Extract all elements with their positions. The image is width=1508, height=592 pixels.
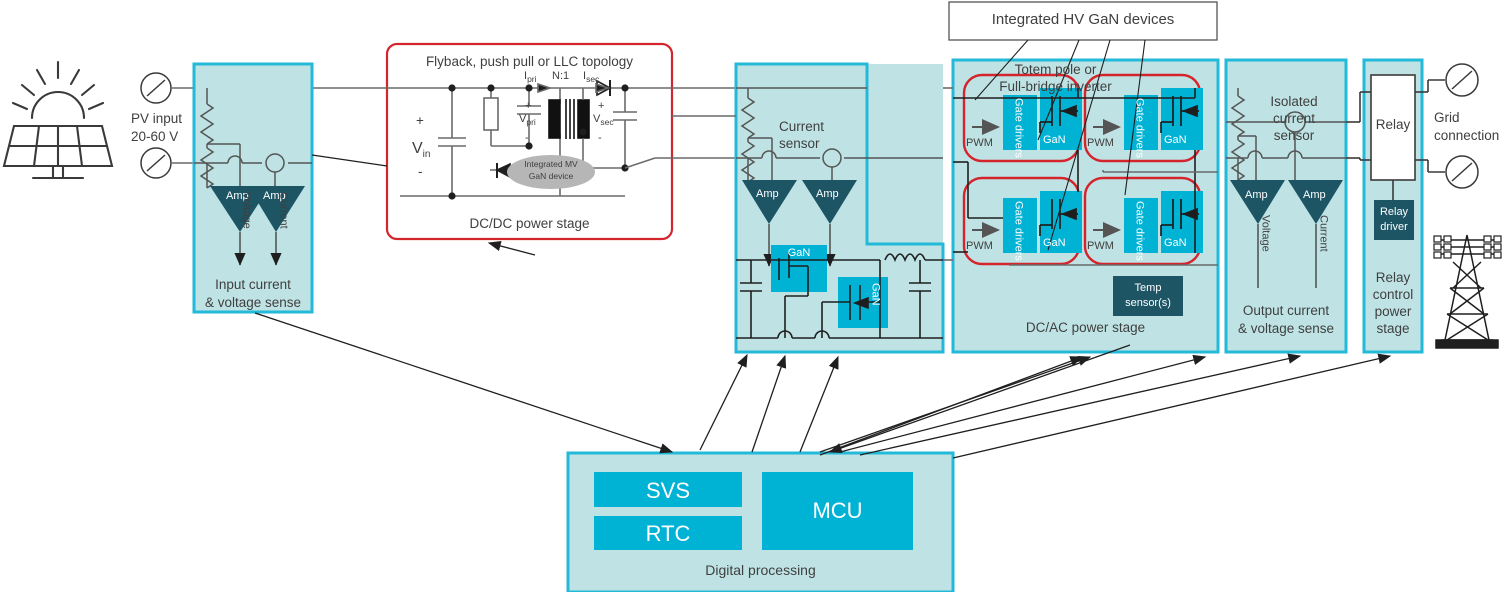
isolated-sensor-label-2: current: [1248, 111, 1340, 127]
cs-amp-2-label: Amp: [816, 188, 839, 201]
relay-driver-label-2: driver: [1374, 221, 1414, 234]
pwm-label-1: PWM: [966, 137, 993, 150]
svs-label: SVS: [594, 478, 742, 503]
vin-label: Vin: [412, 140, 430, 161]
input-sense-caption-2: & voltage sense: [194, 295, 312, 311]
output-sense-caption-1: Output current: [1226, 303, 1346, 319]
output-sense-caption-2: & voltage sense: [1226, 321, 1346, 337]
digital-processing-caption: Digital processing: [568, 562, 953, 578]
grid-label-1: Grid: [1434, 110, 1460, 126]
vsec-label: Vsec: [593, 113, 614, 128]
vin-minus: -: [418, 164, 423, 180]
input-to-dcdc-link: [312, 155, 387, 166]
gan-label-2: GaN: [1164, 134, 1187, 147]
gan-label-3: GaN: [1043, 237, 1066, 250]
temp-sensor-label-1: Temp: [1113, 282, 1183, 295]
solar-panel-icon: [4, 62, 112, 178]
isolated-sensor-label-1: Isolated: [1248, 94, 1340, 110]
diagram-root: PV input 20-60 V Amp Amp Voltage Current…: [0, 0, 1508, 592]
vsec-minus: -: [598, 132, 602, 145]
rtc-label: RTC: [594, 521, 742, 546]
dcdc-title: Flyback, push pull or LLC topology: [387, 54, 672, 70]
relay-label: Relay: [1371, 117, 1415, 133]
pv-terminal-bottom-icon: [141, 148, 171, 178]
vsec-plus: +: [598, 100, 604, 113]
gate-drivers-label-4: Gate drivers: [1134, 201, 1144, 261]
ipri-label: Ipri: [524, 70, 537, 85]
relay-caption-2: control: [1364, 287, 1422, 303]
relay-driver-label-1: Relay: [1374, 206, 1414, 219]
relay-caption-1: Relay: [1364, 270, 1422, 286]
cs-amp-1-label: Amp: [756, 188, 779, 201]
pwm-label-4: PWM: [1087, 240, 1114, 253]
input-current-signal-label: Current: [277, 192, 290, 229]
pv-terminal-top-icon: [141, 73, 171, 103]
input-voltage-signal-label: Voltage: [240, 192, 253, 229]
gan-low-label: GaN: [771, 247, 827, 260]
temp-sensor-label-2: sensor(s): [1113, 297, 1183, 310]
pv-input-label-line1: PV input: [131, 111, 182, 127]
current-sensor-label-1: Current: [779, 119, 824, 135]
output-current-signal-label: Current: [1317, 215, 1330, 252]
output-amp-1-label: Amp: [1245, 189, 1268, 202]
relay-caption-3: power: [1364, 304, 1422, 320]
vpri-minus: -: [525, 132, 529, 145]
transmission-tower-icon: [1434, 235, 1501, 348]
current-sensor-label-2: sensor: [779, 136, 820, 152]
vpri-plus: +: [525, 100, 531, 113]
gan-high-label: GaN: [869, 283, 882, 306]
vpri-label: Vpri: [519, 113, 536, 128]
gate-drivers-label-1: Gate drivers: [1013, 98, 1023, 158]
dcac-title-1: Totem pole or: [953, 62, 1158, 78]
gate-drivers-label-2: Gate drivers: [1134, 98, 1144, 158]
dcac-caption: DC/AC power stage: [953, 320, 1218, 336]
pwm-label-3: PWM: [966, 240, 993, 253]
dcac-title-2: Full-bridge inverter: [953, 79, 1158, 95]
pwm-label-2: PWM: [1087, 137, 1114, 150]
relay-caption-4: stage: [1364, 321, 1422, 337]
output-voltage-signal-label: Voltage: [1259, 215, 1272, 252]
grid-terminal-bottom-icon: [1446, 156, 1478, 188]
input-sense-caption-1: Input current: [194, 277, 312, 293]
pv-input-label-line2: 20-60 V: [131, 129, 178, 145]
vin-plus: +: [416, 113, 424, 129]
mv-gan-label-2: GaN device: [507, 172, 595, 182]
isolated-sensor-label-3: sensor: [1248, 128, 1340, 144]
isec-label: Isec: [583, 70, 599, 85]
mv-gan-label-1: Integrated MV: [507, 160, 595, 170]
gan-label-1: GaN: [1043, 134, 1066, 147]
gate-drivers-label-3: Gate drivers: [1013, 201, 1023, 261]
dcdc-caption: DC/DC power stage: [387, 216, 672, 232]
gan-label-4: GaN: [1164, 237, 1187, 250]
output-amp-2-label: Amp: [1303, 189, 1326, 202]
turns-ratio-label: N:1: [552, 70, 569, 83]
mcu-label: MCU: [762, 498, 913, 523]
grid-label-2: connection: [1434, 128, 1499, 144]
grid-terminal-top-icon: [1446, 64, 1478, 96]
integrated-hv-gan-callout-label: Integrated HV GaN devices: [949, 11, 1217, 28]
